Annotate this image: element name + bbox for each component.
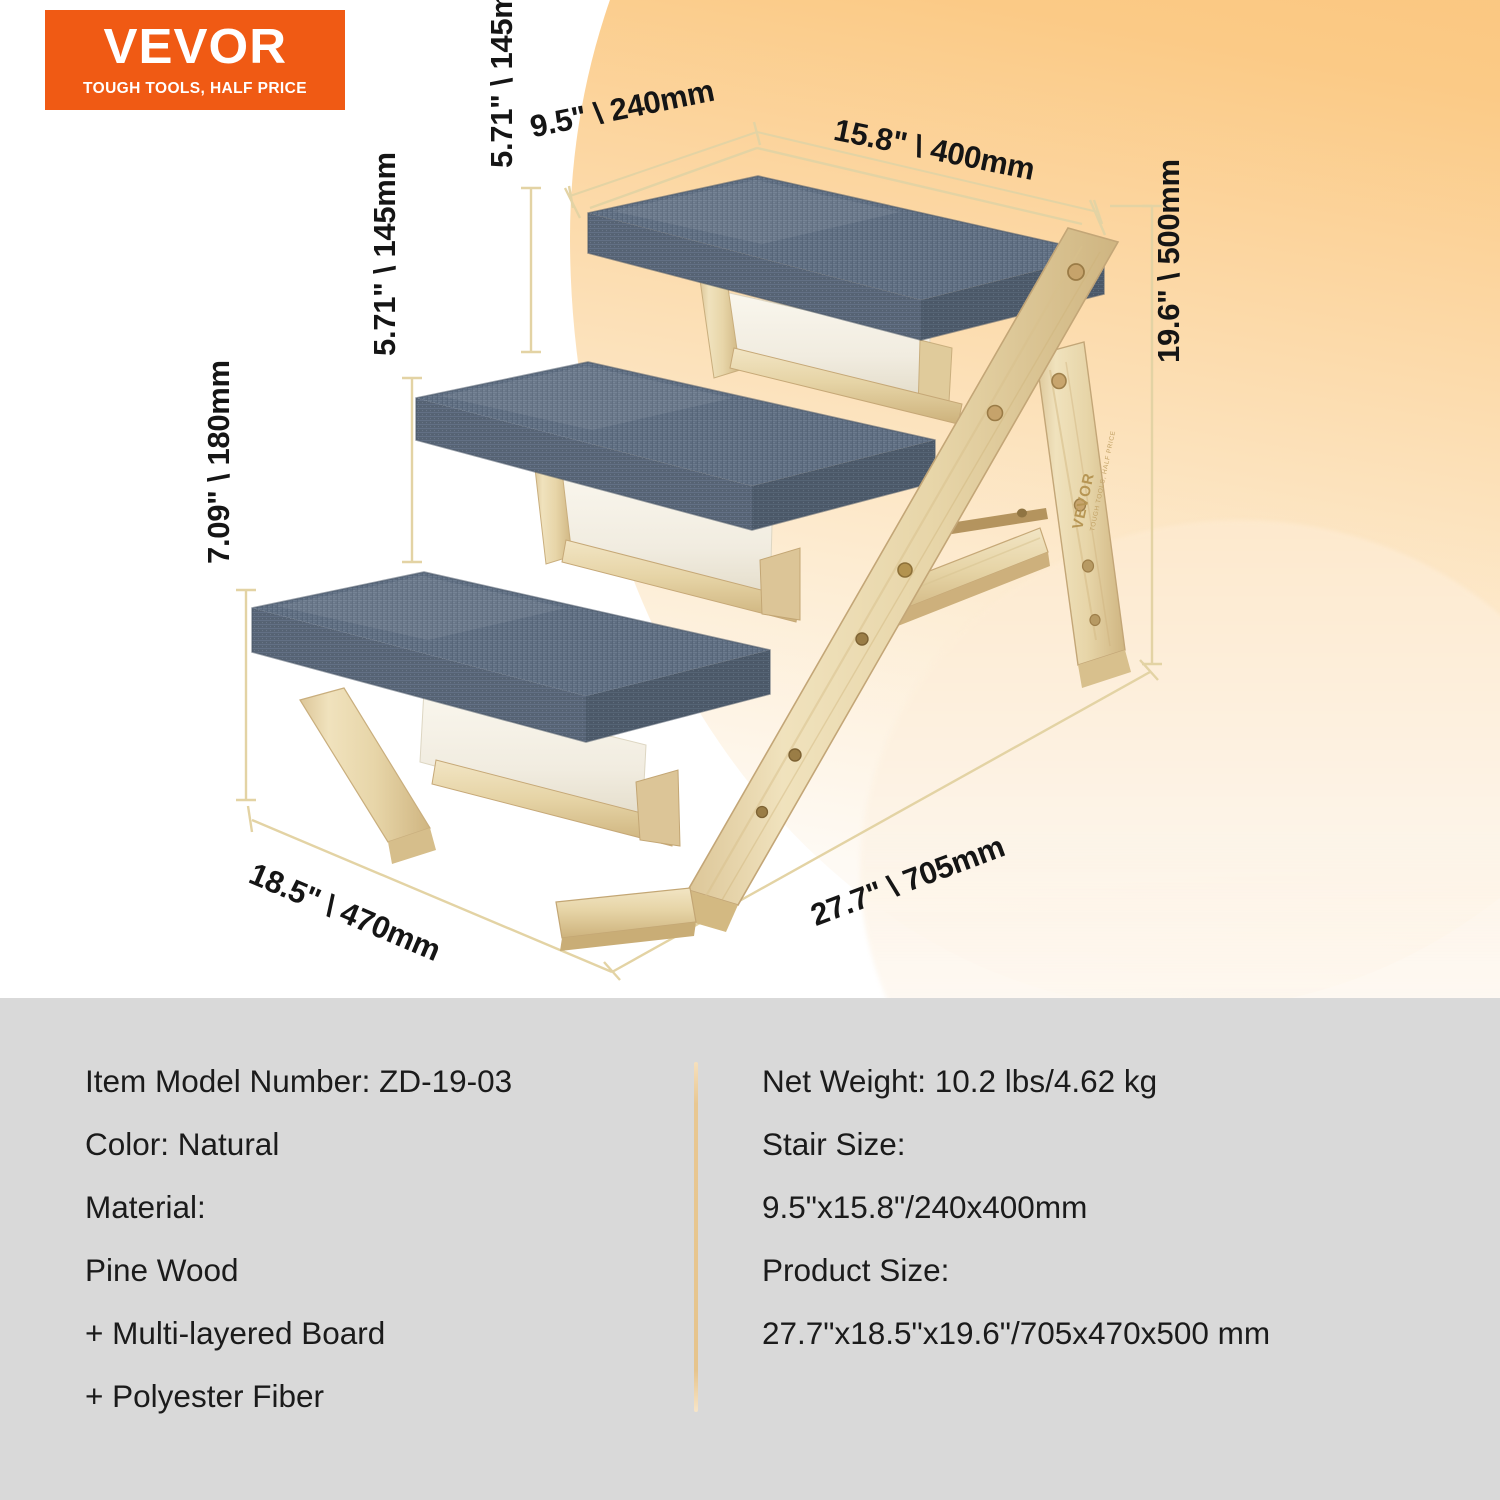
spec-column-divider [694,1062,698,1412]
dimension-label-rise-middle: 5.71" \ 145mm [367,152,403,356]
vevor-logo: VEVOR TOUGH TOOLS, HALF PRICE [45,10,345,110]
spec-item-product-size-label: Product Size: [762,1239,1452,1302]
spec-item-stair-size-value: 9.5"x15.8"/240x400mm [762,1176,1452,1239]
spec-item-material-2: + Multi-layered Board [85,1302,665,1365]
spec-item-material: Material: [85,1176,665,1239]
spec-column-left: Item Model Number: ZD-19-03 Color: Natur… [85,1050,665,1428]
spec-column-right: Net Weight: 10.2 lbs/4.62 kg Stair Size:… [762,1050,1452,1365]
dimension-label-total-height: 19.6" \ 500mm [1151,159,1187,363]
step-middle [416,362,935,622]
spec-item-material-3: + Polyester Fiber [85,1365,665,1428]
spec-item-product-size-value: 27.7"x18.5"x19.6"/705x470x500 mm [762,1302,1452,1365]
spec-item-net-weight: Net Weight: 10.2 lbs/4.62 kg [762,1050,1452,1113]
dimension-label-rise-top: 5.71" \ 145mm [484,0,520,168]
vevor-wordmark: VEVOR [103,23,287,72]
front-foot-rail [556,888,696,951]
step-bottom [252,572,770,864]
rear-leg: VEVOR TOUGH TOOLS, HALF PRICE [1036,342,1131,688]
spec-item-color: Color: Natural [85,1113,665,1176]
spec-item-material-1: Pine Wood [85,1239,665,1302]
vevor-tagline: TOUGH TOOLS, HALF PRICE [83,80,307,98]
dimension-label-rise-bottom: 7.09" \ 180mm [201,360,237,564]
product-image-panel: VEVOR TOUGH TOOLS, HALF PRICE [0,0,1500,998]
spec-item-model-number: Item Model Number: ZD-19-03 [85,1050,665,1113]
spec-item-stair-size-label: Stair Size: [762,1113,1452,1176]
